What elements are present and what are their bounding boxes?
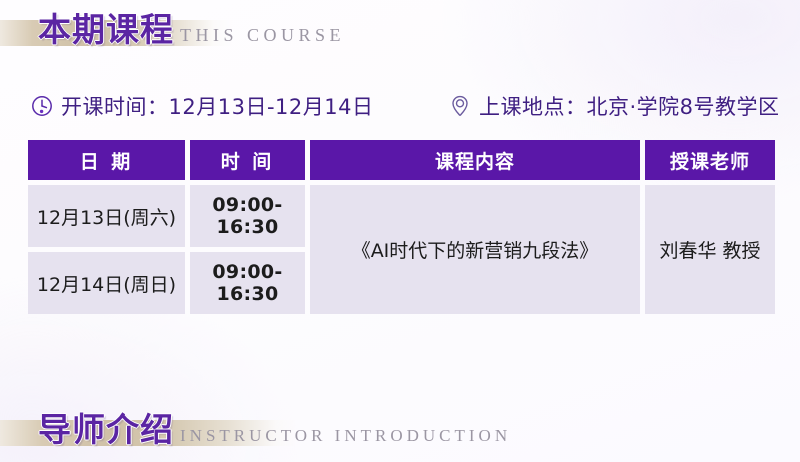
table-row: 12月14日(周日) 09:00-16:30 [28,252,305,314]
cell-date: 12月13日(周六) [28,185,185,247]
meta-location-text: 上课地点：北京·学院8号教学区 [479,91,780,121]
meta-item-location: 上课地点：北京·学院8号教学区 [448,91,780,121]
cell-time: 09:00-16:30 [190,185,305,247]
map-pin-icon [448,94,472,118]
table-header-row: 日 期 时 间 课程内容 授课老师 [28,140,775,180]
section-title-en-course: THIS COURSE [180,5,345,65]
table-header-content: 课程内容 [310,140,640,180]
section-header-instructor: 导师介绍 INSTRUCTOR INTRODUCTION [0,400,800,460]
table-header-time: 时 间 [190,140,305,180]
cell-time: 09:00-16:30 [190,252,305,314]
table-cell-teacher-wrap: 刘春华 教授 [645,185,775,314]
table-body-left-columns: 12月13日(周六) 09:00-16:30 12月14日(周日) 09:00-… [28,185,305,314]
slide-page: 本期课程 THIS COURSE 开课时间：12月13日-12月14日 上课地点… [0,0,800,462]
course-schedule-table: 日 期 时 间 课程内容 授课老师 12月13日(周六) 09:00-16:30… [28,140,775,314]
section-title-en-instructor: INSTRUCTOR INTRODUCTION [180,406,511,462]
meta-time-text: 开课时间：12月13日-12月14日 [61,91,373,121]
table-row: 12月13日(周六) 09:00-16:30 [28,185,305,247]
table-header-date: 日 期 [28,140,185,180]
table-body: 12月13日(周六) 09:00-16:30 12月14日(周日) 09:00-… [28,185,775,314]
course-meta-row: 开课时间：12月13日-12月14日 上课地点：北京·学院8号教学区 [30,88,782,124]
heading-titles: 导师介绍 INSTRUCTOR INTRODUCTION [38,400,511,462]
cell-course-content: 《AI时代下的新营销九段法》 [310,185,640,314]
clock-icon [30,94,54,118]
meta-item-time: 开课时间：12月13日-12月14日 [30,91,448,121]
cell-date: 12月14日(周日) [28,252,185,314]
section-title-cn-instructor: 导师介绍 [38,400,174,460]
heading-titles: 本期课程 THIS COURSE [38,0,345,65]
section-title-cn-course: 本期课程 [38,0,174,60]
table-cell-content-wrap: 《AI时代下的新营销九段法》 [310,185,640,314]
table-header-teacher: 授课老师 [645,140,775,180]
section-header-course: 本期课程 THIS COURSE [0,0,800,60]
cell-teacher: 刘春华 教授 [645,185,775,314]
